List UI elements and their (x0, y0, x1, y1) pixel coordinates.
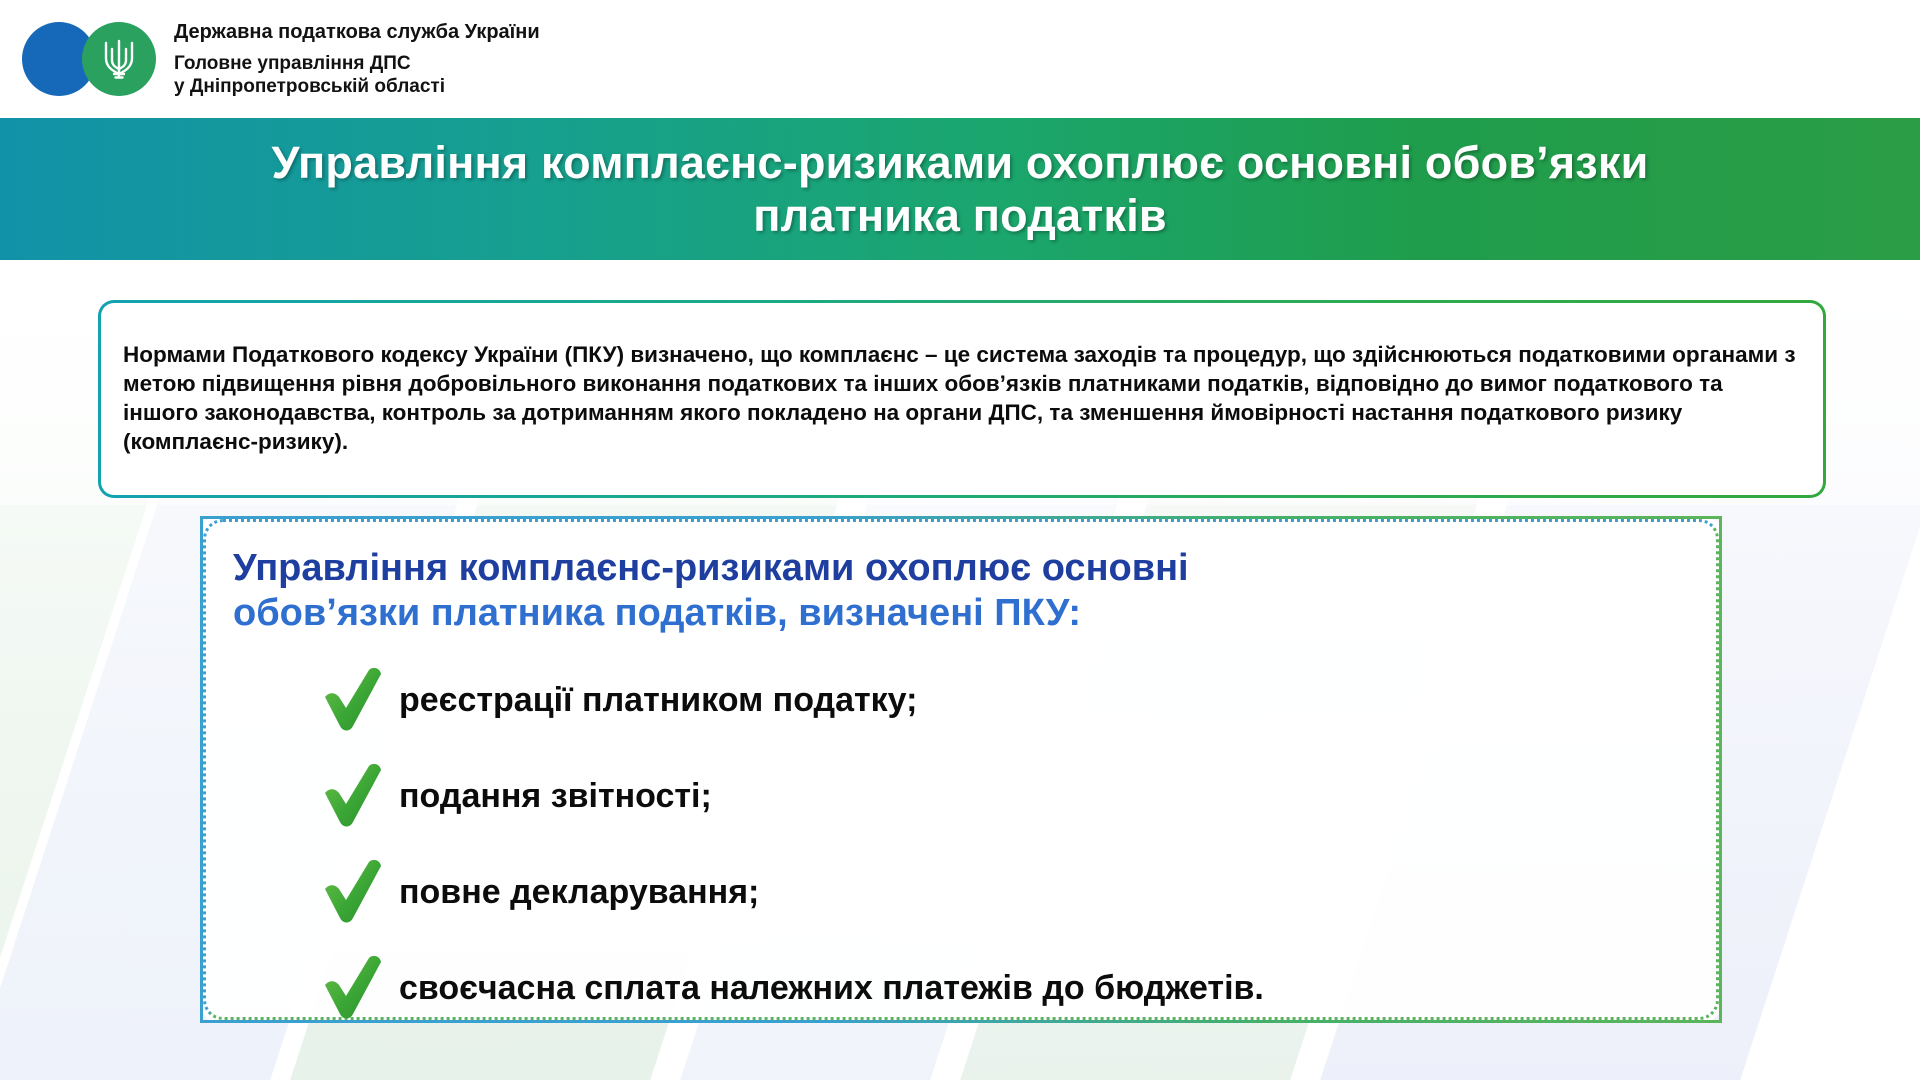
ukraine-trident-icon (82, 22, 156, 96)
page-title: Управління комплаєнс-ризиками охоплює ос… (154, 136, 1766, 242)
list-item-label: подання звітності; (399, 777, 712, 816)
green-checkmark-icon (317, 663, 391, 737)
list-item-label: своєчасна сплата належних платежів до бю… (399, 969, 1264, 1008)
obligations-heading-line-1: Управління комплаєнс-ризиками охоплює ос… (233, 547, 1689, 590)
list-item: повне декларування; (225, 844, 1689, 940)
list-item-label: реєстрації платником податку; (399, 681, 917, 720)
obligations-list: реєстрації платником податку; подання зв… (225, 652, 1689, 1036)
green-checkmark-icon (317, 855, 391, 929)
obligations-heading: Управління комплаєнс-ризиками охоплює ос… (233, 547, 1689, 634)
list-item: подання звітності; (225, 748, 1689, 844)
list-item: реєстрації платником податку; (225, 652, 1689, 748)
title-banner: Управління комплаєнс-ризиками охоплює ос… (0, 118, 1920, 260)
brand-text-block: Державна податкова служба України Головн… (174, 20, 540, 98)
brand-line-1: Державна податкова служба України (174, 20, 540, 44)
definition-card: Нормами Податкового кодексу України (ПКУ… (98, 300, 1826, 498)
definition-text: Нормами Податкового кодексу України (ПКУ… (123, 340, 1801, 457)
brand-line-3: у Дніпропетровській області (174, 75, 540, 98)
brand-header: Державна податкова служба України Головн… (0, 0, 1920, 118)
agency-logo (22, 22, 160, 96)
obligations-heading-line-2: обов’язки платника податків, визначені П… (233, 592, 1689, 635)
obligations-card: Управління комплаєнс-ризиками охоплює ос… (200, 516, 1722, 1023)
green-checkmark-icon (317, 759, 391, 833)
brand-line-2: Головне управління ДПС (174, 52, 540, 75)
list-item-label: повне декларування; (399, 873, 759, 912)
slide-canvas: Державна податкова служба України Головн… (0, 0, 1920, 1080)
list-item: своєчасна сплата належних платежів до бю… (225, 940, 1689, 1036)
green-checkmark-icon (317, 951, 391, 1025)
